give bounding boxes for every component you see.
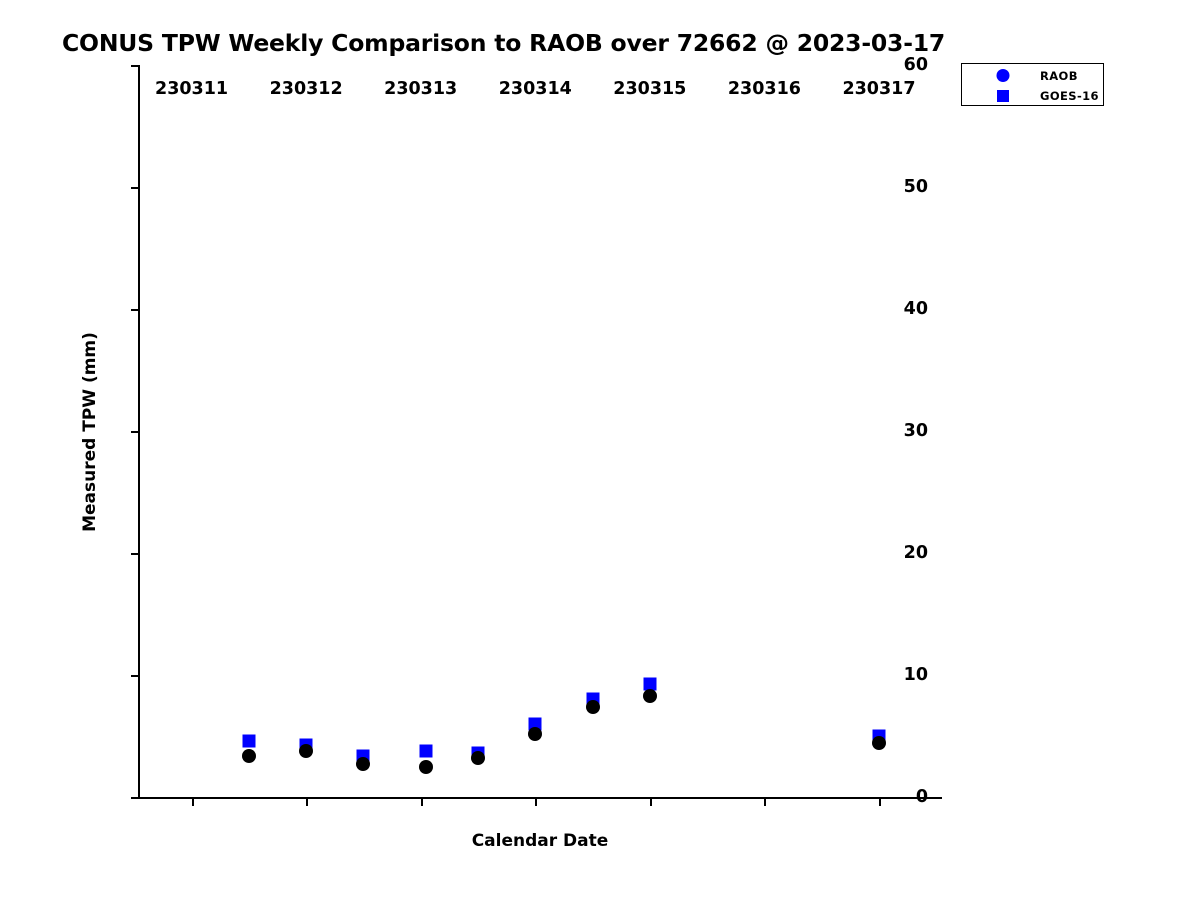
data-point-raob — [471, 751, 485, 765]
data-point-goes16 — [242, 734, 255, 747]
data-point-raob — [586, 700, 600, 714]
x-axis-tick-label: 230315 — [613, 79, 686, 99]
x-axis-tick-label: 230317 — [842, 79, 915, 99]
figure-canvas: CONUS TPW Weekly Comparison to RAOB over… — [0, 0, 1200, 900]
x-axis-tick-label: 230314 — [499, 79, 572, 99]
y-axis-tick-label: 20 — [904, 543, 928, 563]
legend-entry-goes16: GOES-16 — [962, 85, 1103, 106]
legend-label-goes16: GOES-16 — [1040, 89, 1099, 103]
y-axis-tick-label: 50 — [904, 177, 928, 197]
data-point-raob — [643, 689, 657, 703]
x-axis-tick — [421, 797, 423, 806]
x-axis-tick — [192, 797, 194, 806]
y-axis-label: Measured TPW (mm) — [80, 332, 100, 532]
x-axis-tick-label: 230313 — [384, 79, 457, 99]
data-point-raob — [419, 760, 433, 774]
x-axis-tick — [650, 797, 652, 806]
x-axis-tick-label: 230311 — [155, 79, 228, 99]
x-axis-tick — [535, 797, 537, 806]
x-axis-label: Calendar Date — [472, 831, 609, 851]
y-axis-tick-label: 60 — [904, 55, 928, 75]
y-axis-tick — [131, 65, 140, 67]
square-marker-icon — [997, 90, 1009, 102]
y-axis-tick — [131, 553, 140, 555]
y-axis-tick-label: 30 — [904, 421, 928, 441]
plot-area: 0102030405060230311230312230313230314230… — [138, 65, 942, 799]
circle-marker-icon — [997, 69, 1010, 82]
y-axis-tick — [131, 797, 140, 799]
data-point-raob — [528, 727, 542, 741]
x-axis-tick-label: 230316 — [728, 79, 801, 99]
x-axis-tick — [306, 797, 308, 806]
y-axis-tick — [131, 675, 140, 677]
y-axis-tick — [131, 309, 140, 311]
legend-label-raob: RAOB — [1040, 69, 1078, 83]
y-axis-tick — [131, 431, 140, 433]
y-axis-tick-label: 40 — [904, 299, 928, 319]
data-point-raob — [299, 744, 313, 758]
chart-title: CONUS TPW Weekly Comparison to RAOB over… — [62, 29, 945, 57]
legend-box: RAOB GOES-16 — [961, 63, 1104, 106]
y-axis-tick-label: 10 — [904, 665, 928, 685]
data-point-goes16 — [420, 744, 433, 757]
y-axis-tick-label: 0 — [916, 787, 928, 807]
x-axis-tick-label: 230312 — [270, 79, 343, 99]
data-point-raob — [872, 736, 886, 750]
legend-entry-raob: RAOB — [962, 65, 1103, 86]
x-axis-tick — [764, 797, 766, 806]
x-axis-tick — [879, 797, 881, 806]
data-point-layer — [140, 65, 942, 797]
data-point-raob — [356, 757, 370, 771]
y-axis-tick — [131, 187, 140, 189]
data-point-raob — [242, 749, 256, 763]
